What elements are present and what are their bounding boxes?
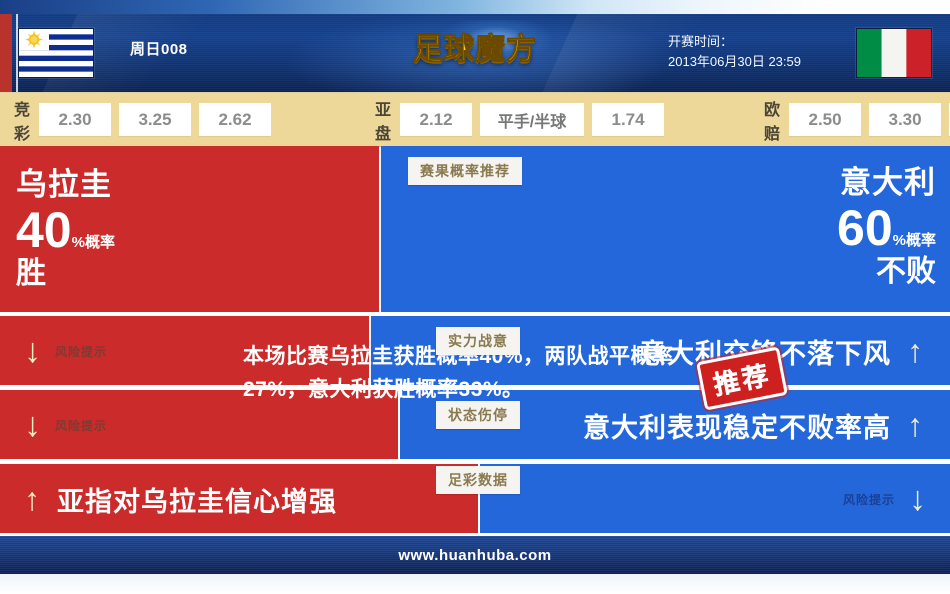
info-row-headline: ↑ 亚指对乌拉圭信心增强: [24, 480, 337, 519]
home-probability-value: 40: [16, 202, 72, 258]
arrow-up-icon: ↑: [907, 333, 924, 370]
uruguay-flag-icon: [18, 28, 94, 78]
footer-bar: www.huanhuba.com: [0, 536, 950, 574]
arrow-down-icon: ↓: [909, 482, 926, 516]
risk-hint-left: ↓ 风险提示: [24, 334, 107, 368]
info-row-headline-text: 意大利表现稳定不败率高: [583, 406, 891, 445]
poster-root: 周日008 足球魔方 开赛时间： 2013年06月30日 23:59 竞彩 2.…: [0, 0, 950, 594]
bottom-gradient-strip: [0, 574, 950, 594]
away-probability-value-line: 60%概率: [837, 202, 936, 254]
odds-cell[interactable]: 2.50: [789, 103, 861, 136]
away-team-name: 意大利: [837, 164, 936, 202]
arrow-up-icon: ↑: [907, 407, 924, 444]
arrow-down-icon: ↓: [24, 334, 41, 368]
odds-cell-handicap[interactable]: 平手/半球: [480, 103, 584, 136]
arrow-down-icon: ↓: [24, 408, 41, 442]
kickoff-info: 开赛时间： 2013年06月30日 23:59: [668, 32, 801, 72]
risk-hint-left: ↓ 风险提示: [24, 408, 107, 442]
match-number: 周日008: [130, 38, 188, 59]
risk-hint-right: 风险提示 ↓: [843, 482, 926, 516]
odds-cell[interactable]: 2.30: [39, 103, 111, 136]
site-logo[interactable]: 足球魔方: [400, 20, 550, 82]
odds-cell[interactable]: 2.12: [400, 103, 472, 136]
header-left-accent-bar: [0, 14, 12, 92]
odds-group-label: 竞彩: [14, 96, 31, 144]
recommend-stamp-text: 推荐: [711, 360, 774, 401]
away-probability-value: 60: [837, 200, 893, 256]
logo-text: 足球魔方: [400, 30, 550, 70]
odds-group-jingcai: 竞彩 2.30 3.25 2.62: [14, 96, 279, 144]
home-result-label: 胜: [16, 256, 115, 292]
site-url[interactable]: www.huanhuba.com: [398, 547, 551, 564]
odds-group-yapan: 亚盘 2.12 平手/半球 1.74: [375, 96, 672, 144]
section-tag-betting-data: 足彩数据: [436, 466, 520, 494]
away-team-block: 意大利 60%概率 不败: [837, 164, 936, 290]
odds-cell[interactable]: 3.30: [869, 103, 941, 136]
kickoff-time: 2013年06月30日 23:59: [668, 52, 801, 72]
info-row-headline-text: 亚指对乌拉圭信心增强: [57, 480, 337, 519]
odds-group-label: 欧赔: [764, 96, 781, 144]
italy-flag-icon: [856, 28, 932, 78]
risk-hint-label: 风险提示: [843, 491, 895, 508]
odds-group-label: 亚盘: [375, 96, 392, 144]
home-team-block: 乌拉圭 40%概率 胜: [16, 166, 115, 292]
home-probability-value-line: 40%概率: [16, 204, 115, 256]
section-tag-strength: 实力战意: [436, 327, 520, 355]
odds-cell[interactable]: 1.74: [592, 103, 664, 136]
risk-hint-label: 风险提示: [55, 343, 107, 360]
section-tag-form: 状态伤停: [436, 401, 520, 429]
kickoff-label: 开赛时间：: [668, 32, 801, 52]
away-result-label: 不败: [837, 254, 936, 290]
odds-cell[interactable]: 2.62: [199, 103, 271, 136]
arrow-up-icon: ↑: [24, 481, 41, 518]
home-team-name: 乌拉圭: [16, 166, 115, 204]
section-tag-probability: 赛果概率推荐: [408, 157, 522, 185]
odds-bar: 竞彩 2.30 3.25 2.62 亚盘 2.12 平手/半球 1.74 欧赔 …: [0, 92, 950, 147]
odds-cell[interactable]: 3.25: [119, 103, 191, 136]
home-probability-unit: %概率: [72, 234, 115, 251]
info-row-headline: 意大利表现稳定不败率高 ↑: [583, 406, 924, 445]
odds-group-oupei: 欧赔 2.50 3.30 2.66: [764, 96, 950, 144]
away-probability-unit: %概率: [893, 232, 936, 249]
risk-hint-label: 风险提示: [55, 417, 107, 434]
